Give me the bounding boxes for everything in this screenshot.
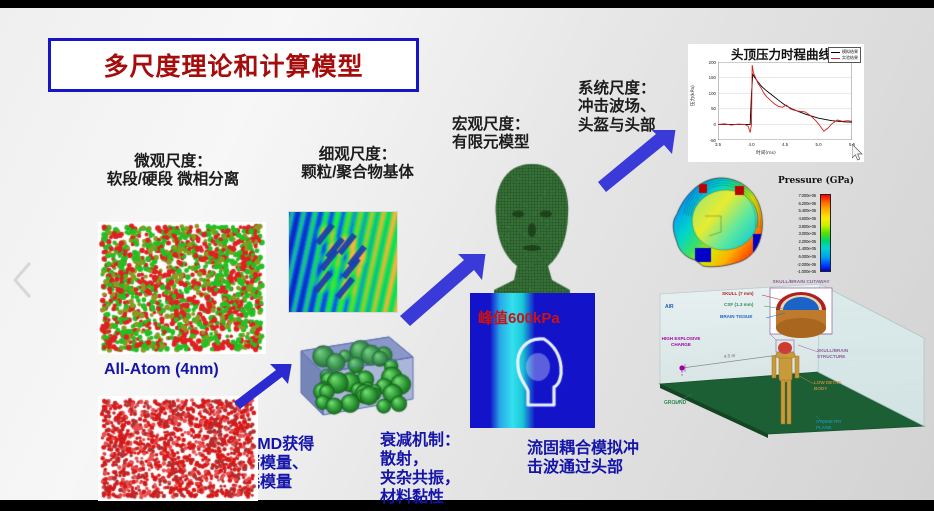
caption-fsi: 流固耦合模拟冲 击波通过头部 — [527, 440, 639, 478]
rve-canvas — [293, 323, 419, 423]
head-pressure-contour-image — [665, 174, 775, 276]
pressure-legend-values: 7.000e-056.200e-055.400e-054.600e-053.80… — [778, 192, 816, 276]
fe-head-model-image: 峰值600kPa — [470, 158, 595, 428]
legend-entry-1: 实验结果 — [831, 55, 858, 61]
pressure-legend-value: 3.000e-05 — [778, 231, 816, 236]
letterbox-bottom — [0, 500, 934, 511]
pressure-time-chart: 头顶压力时程曲线 模拟结果 实验结果 压力(kPa) 时间(ms) 200150… — [688, 44, 864, 162]
blast-label-brain: BRAIN TISSUE — [720, 314, 752, 319]
pressure-legend-value: -1.000e-05 — [778, 269, 816, 274]
letterbox-top — [0, 0, 934, 8]
blast-label-csf: CSF (1.3 mm) — [724, 302, 753, 307]
cg-md-image-bottom — [98, 396, 258, 501]
rve-particle-box-image — [293, 323, 419, 423]
chart-ytick: 100 — [698, 91, 716, 96]
pressure-legend-value: 4.600e-05 — [778, 216, 816, 221]
pressure-legend-row: 7.000e-05 — [778, 192, 816, 200]
caption-micro-scale: 微观尺度： 软段/硬段 微相分离 — [78, 153, 268, 190]
chart-xtick: 4.5 — [780, 142, 790, 147]
blast-setup-diagram: 4.5 m — [652, 276, 934, 441]
arrow-macro-to-system — [596, 130, 678, 192]
wave-scattering-field-image — [288, 211, 398, 313]
blast-label-ground: GROUND — [664, 400, 686, 406]
caption-macro-scale: 宏观尺度： 有限元模型 — [452, 116, 572, 153]
caption-all-atom: All-Atom (4nm) — [104, 361, 219, 380]
pressure-legend-row: 1.400e-05 — [778, 245, 816, 253]
blast-diagram-svg: 4.5 m — [652, 276, 934, 441]
wave-field-canvas — [289, 212, 397, 312]
caption-system-scale: 系统尺度： 冲击波场、 头盔与头部 — [578, 80, 698, 135]
pressure-legend-value: 3.800e-05 — [778, 224, 816, 229]
md-particles-canvas — [98, 222, 266, 354]
chart-ytick: 150 — [698, 75, 716, 80]
chart-plot-area — [718, 62, 852, 140]
contour-canvas — [665, 174, 775, 276]
mouse-cursor-icon — [852, 144, 864, 162]
chart-xlabel: 时间(ms) — [756, 150, 776, 156]
chart-ylabel: 压力(kPa) — [690, 85, 696, 106]
blast-label-air: AIR — [665, 304, 674, 310]
pressure-legend-title: Pressure (GPa) — [770, 176, 862, 186]
pressure-legend-row: -2.000e-06 — [778, 260, 816, 268]
pressure-legend-value: 2.200e-05 — [778, 239, 816, 244]
pressure-legend-row: 5.400e-05 — [778, 207, 816, 215]
pressure-legend-value: 7.000e-05 — [778, 193, 816, 198]
pressure-legend-row: 6.000e-06 — [778, 253, 816, 261]
pressure-colorbar: Pressure (GPa) 7.000e-056.200e-055.400e-… — [770, 176, 862, 276]
chart-legend: 模拟结果 实验结果 — [828, 47, 861, 63]
chart-ytick: 50 — [698, 106, 716, 111]
all-atom-md-image-top — [98, 222, 266, 354]
blast-label-body: LOW DETAIL BODY — [814, 380, 866, 391]
prev-slide-chevron-icon[interactable] — [10, 260, 36, 300]
slide-canvas: 多尺度理论和计算模型 微观尺度： 软段/硬段 微相分离 细观尺度： 颗粒/聚合物… — [0, 8, 934, 500]
pressure-legend-row: 2.200e-05 — [778, 238, 816, 246]
caption-peak-pressure: 峰值600kPa — [478, 310, 560, 328]
arrow-meso-to-macro — [398, 254, 488, 326]
blast-label-structure: SKULL/BRAIN STRUCTURE — [817, 348, 875, 359]
chart-xtick: 4.0 — [747, 142, 757, 147]
chart-ytick: 0 — [698, 122, 716, 127]
pressure-legend-value: 5.400e-05 — [778, 208, 816, 213]
pressure-legend-value: 6.200e-05 — [778, 201, 816, 206]
head-mesh-canvas — [470, 158, 595, 303]
blast-label-symmetry: SYMMETRY PLANE — [816, 419, 868, 430]
pressure-legend-value: 6.000e-06 — [778, 254, 816, 259]
pressure-legend-value: -2.000e-06 — [778, 262, 816, 267]
page-title: 多尺度理论和计算模型 — [103, 47, 363, 83]
legend-label-1: 实验结果 — [842, 55, 858, 61]
caption-attenuation: 衰减机制： 散射， 夹杂共振， 材料黏性 — [380, 432, 460, 508]
slide-viewer: 多尺度理论和计算模型 微观尺度： 软段/硬段 微相分离 细观尺度： 颗粒/聚合物… — [0, 0, 934, 511]
pressure-legend-row: 3.800e-05 — [778, 222, 816, 230]
pressure-legend-bar — [820, 194, 831, 272]
pressure-legend-row: 4.600e-05 — [778, 215, 816, 223]
chart-xtick: 3.5 — [713, 142, 723, 147]
chart-xtick: 5.0 — [814, 142, 824, 147]
slide-title-box: 多尺度理论和计算模型 — [48, 38, 419, 92]
blast-label-skull: SKULL (7 mm) — [722, 291, 754, 296]
blast-label-charge: HIGH EXPLOSIVE CHARGE — [660, 336, 702, 347]
pressure-legend-row: -1.000e-05 — [778, 268, 816, 276]
pressure-legend-value: 1.400e-05 — [778, 246, 816, 251]
blast-label-cutaway: SKULL/BRAIN CUTAWAY — [770, 280, 832, 285]
cg-md-particles-canvas — [98, 396, 258, 501]
arrow-micro-to-meso — [230, 364, 296, 410]
caption-meso-scale: 细观尺度： 颗粒/聚合物基体 — [275, 146, 440, 183]
pressure-legend-row: 6.200e-05 — [778, 200, 816, 208]
chart-ytick: 200 — [698, 60, 716, 65]
pressure-legend-row: 3.000e-05 — [778, 230, 816, 238]
